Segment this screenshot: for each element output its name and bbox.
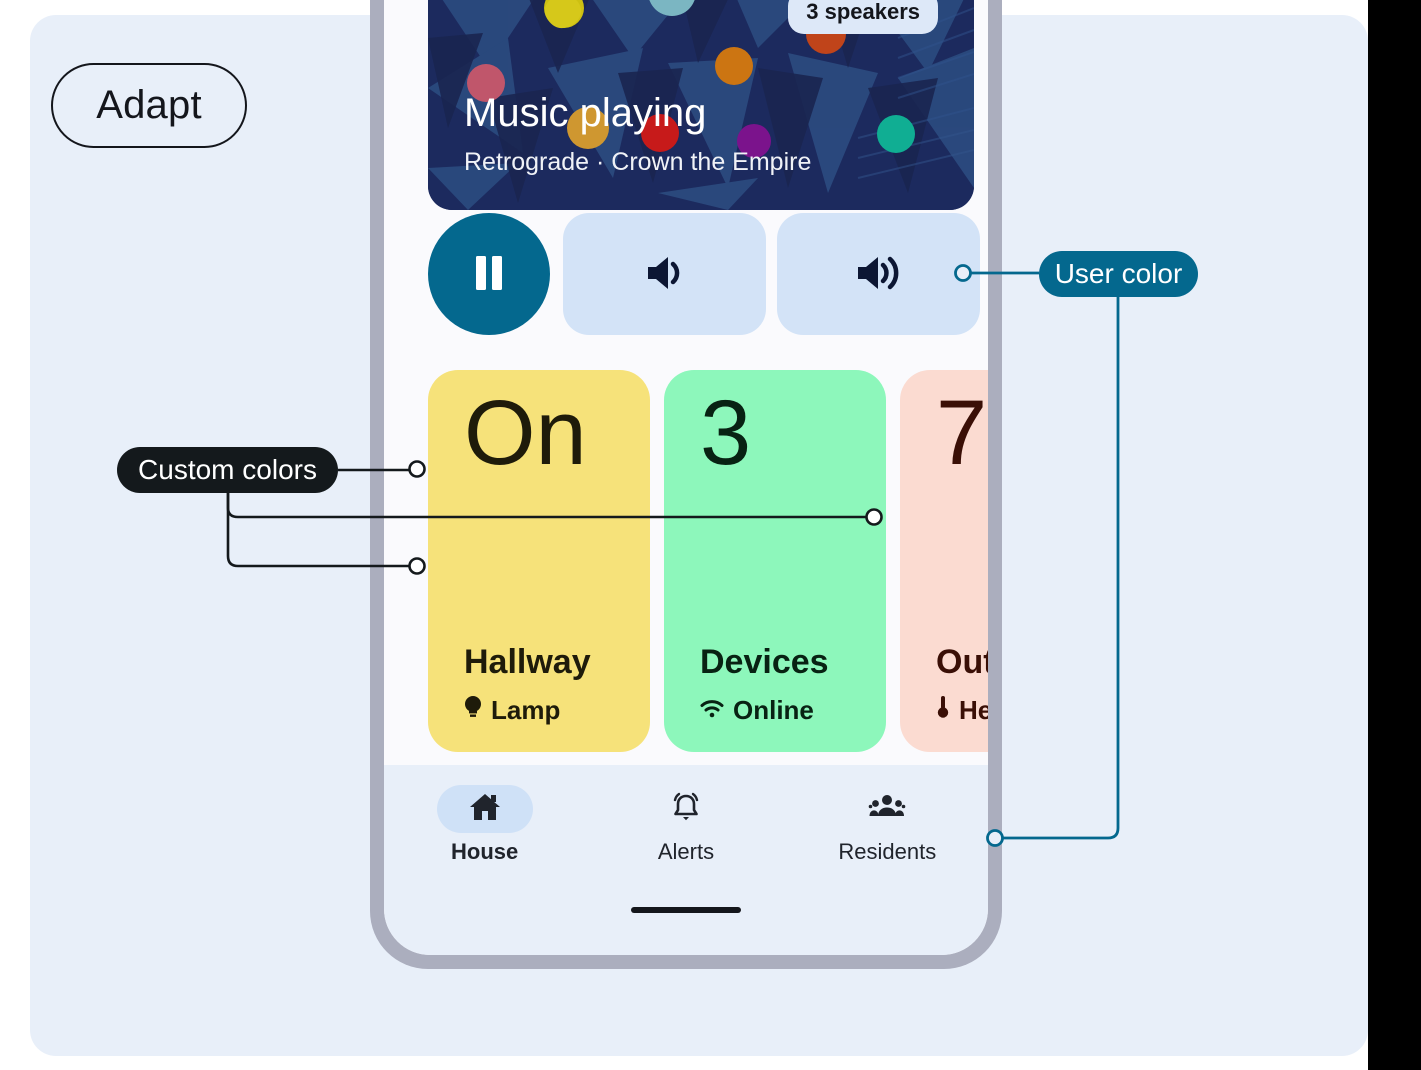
- media-card[interactable]: 3 speakers Music playing Retrograde · Cr…: [428, 0, 974, 210]
- nav-active-pill: [437, 785, 533, 833]
- nav-item-residents[interactable]: Residents: [787, 785, 988, 865]
- phone-frame: 3 speakers Music playing Retrograde · Cr…: [370, 0, 1002, 969]
- home-icon: [469, 792, 501, 827]
- nav-item-house[interactable]: House: [384, 785, 585, 865]
- annotation-user-color: User color: [1039, 251, 1198, 297]
- tile-name: Hallway: [464, 643, 591, 682]
- right-edge-strip: [1368, 0, 1421, 1070]
- tile-hallway[interactable]: On Hallway Lamp: [428, 370, 650, 752]
- tile-value: On: [464, 385, 587, 482]
- tile-status: Heating: [936, 695, 988, 726]
- volume-up-icon: [855, 254, 903, 295]
- nav-label: House: [451, 839, 518, 865]
- phone-screen: 3 speakers Music playing Retrograde · Cr…: [384, 0, 988, 955]
- tile-status-label: Heating: [959, 695, 988, 726]
- thermometer-icon: [936, 695, 950, 726]
- media-subtitle: Retrograde · Crown the Empire: [464, 148, 811, 177]
- screenshot-root: Adapt: [0, 0, 1421, 1070]
- media-controls: [428, 213, 974, 343]
- bell-icon: [669, 791, 703, 828]
- volume-down-button[interactable]: [563, 213, 766, 335]
- tile-devices[interactable]: 3 Devices Online: [664, 370, 886, 752]
- pause-button[interactable]: [428, 213, 550, 335]
- tile-outside[interactable]: 71 Outside Heating: [900, 370, 988, 752]
- tile-name: Devices: [700, 643, 829, 682]
- annotation-label: User color: [1055, 258, 1183, 290]
- lightbulb-icon: [464, 695, 482, 726]
- home-indicator: [631, 907, 741, 913]
- annotation-custom-colors: Custom colors: [117, 447, 338, 493]
- tile-value: 3: [700, 385, 751, 482]
- adapt-badge-label: Adapt: [96, 83, 202, 128]
- volume-down-icon: [644, 254, 686, 295]
- nav-item-alerts[interactable]: Alerts: [585, 785, 786, 865]
- bottom-navigation: House: [384, 765, 988, 955]
- tile-status: Online: [700, 695, 814, 726]
- tile-status-label: Online: [733, 695, 814, 726]
- speaker-count-chip[interactable]: 3 speakers: [788, 0, 938, 34]
- speaker-count-label: 3 speakers: [806, 0, 920, 24]
- media-title: Music playing: [464, 91, 706, 136]
- nav-label: Alerts: [658, 839, 714, 865]
- nav-label: Residents: [838, 839, 936, 865]
- people-group-icon: [867, 794, 907, 825]
- tile-name: Outside: [936, 643, 988, 682]
- tile-status-label: Lamp: [491, 695, 560, 726]
- nav-icon-wrap: [638, 785, 734, 833]
- tile-status: Lamp: [464, 695, 560, 726]
- adapt-badge: Adapt: [51, 63, 247, 148]
- pause-icon: [469, 252, 509, 297]
- device-tiles: On Hallway Lamp 3: [428, 370, 988, 760]
- wifi-icon: [700, 695, 724, 726]
- nav-icon-wrap: [839, 785, 935, 833]
- annotation-label: Custom colors: [138, 454, 317, 486]
- volume-up-button[interactable]: [777, 213, 980, 335]
- tile-value: 71: [936, 385, 988, 482]
